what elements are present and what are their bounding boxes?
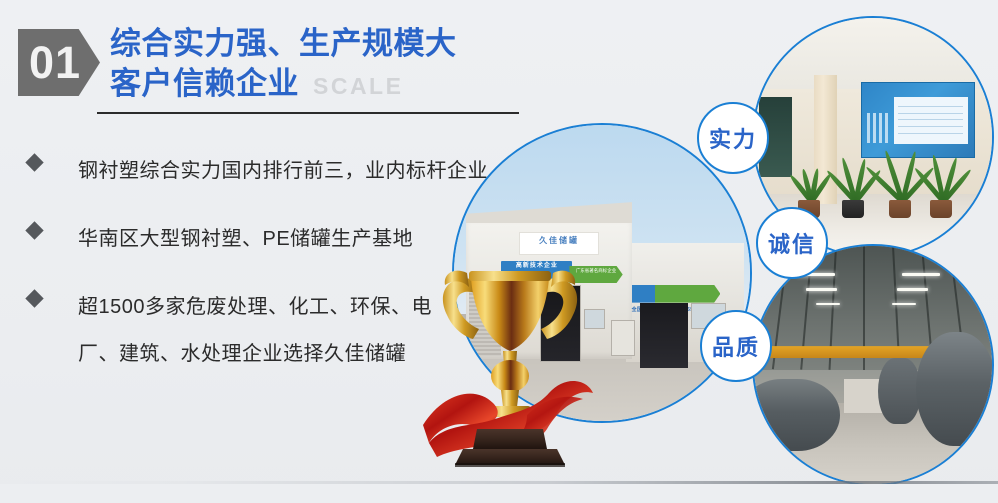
section-number-badge: 01 bbox=[18, 29, 100, 96]
list-item-label-second-line: 厂、建筑、水处理企业选择久佳储罐 bbox=[78, 331, 432, 378]
award-trophy-icon bbox=[415, 243, 605, 468]
list-item: 钢衬塑综合实力国内排行前三，业内标杆企业 bbox=[22, 148, 492, 195]
badge-strength: 实力 bbox=[697, 102, 769, 174]
promo-banner: 01 综合实力强、生产规模大 客户信赖企业 SCALE 钢衬塑综合实力国内排行前… bbox=[0, 0, 998, 503]
page-title-line-2: 客户信赖企业 bbox=[110, 64, 299, 104]
list-item-label: 超1500多家危废处理、化工、环保、电 bbox=[78, 284, 432, 331]
title-block: 综合实力强、生产规模大 客户信赖企业 SCALE bbox=[110, 24, 530, 106]
page-title-line-2-row: 客户信赖企业 SCALE bbox=[110, 64, 530, 106]
bottom-spacer bbox=[0, 484, 998, 503]
page-title-line-1: 综合实力强、生产规模大 bbox=[110, 24, 530, 64]
badge-integrity: 诚信 bbox=[756, 207, 828, 279]
diamond-bullet-icon bbox=[25, 153, 43, 171]
title-divider bbox=[97, 112, 519, 114]
diamond-bullet-icon bbox=[25, 221, 43, 239]
list-item-label: 华南区大型钢衬塑、PE储罐生产基地 bbox=[78, 216, 413, 263]
photo-workshop-interior bbox=[752, 244, 994, 486]
badge-quality: 品质 bbox=[700, 310, 772, 382]
list-item-label-wrap: 超1500多家危废处理、化工、环保、电 厂、建筑、水处理企业选择久佳储罐 bbox=[78, 284, 432, 378]
page-title-english: SCALE bbox=[313, 66, 403, 106]
sign-integrity-business bbox=[632, 285, 721, 303]
list-item-label: 钢衬塑综合实力国内排行前三，业内标杆企业 bbox=[78, 148, 488, 195]
diamond-bullet-icon bbox=[25, 289, 43, 307]
